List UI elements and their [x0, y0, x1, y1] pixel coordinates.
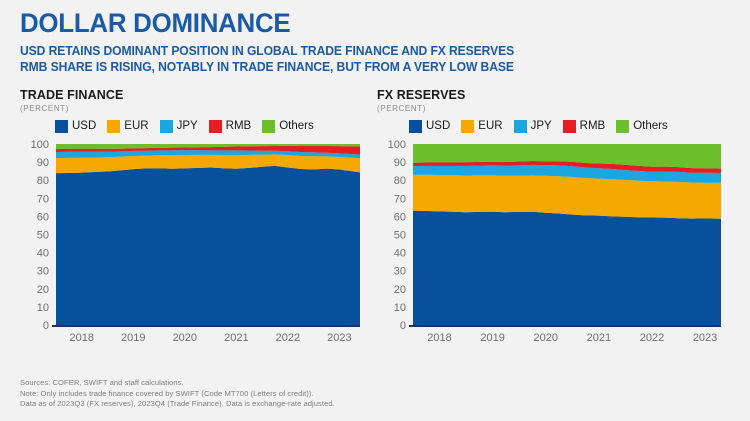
- x-tick-label: 2023: [327, 332, 351, 344]
- footnotes: Sources: COFER, SWIFT and staff calculat…: [20, 378, 335, 410]
- y-tick-label: 80: [394, 175, 406, 187]
- y-tick-label: 60: [37, 211, 49, 223]
- x-tick-label: 2021: [587, 332, 611, 344]
- x-tick-label: 2021: [224, 332, 248, 344]
- legend-item-eur[interactable]: EUR: [107, 120, 148, 133]
- y-tick-label: 10: [394, 302, 406, 314]
- y-tick-label: 100: [31, 139, 49, 151]
- area-series-usd: [56, 166, 360, 325]
- x-tick-label: 2022: [276, 332, 300, 344]
- legend-swatch-others-icon: [616, 120, 629, 133]
- y-tick-label: 80: [37, 175, 49, 187]
- x-tick-label: 2018: [70, 332, 94, 344]
- area-series-usd: [413, 211, 721, 325]
- y-tick-label: 40: [37, 248, 49, 260]
- panel-unit-trade-finance: (PERCENT): [20, 104, 368, 114]
- legend-fx-reserves: USD EUR JPY RMB Others: [409, 120, 673, 133]
- panel-unit-fx-reserves: (PERCENT): [377, 104, 729, 114]
- legend-item-rmb[interactable]: RMB: [563, 120, 606, 133]
- legend-label-eur: EUR: [124, 120, 148, 133]
- panel-title-trade-finance: TRADE FINANCE: [20, 88, 368, 102]
- legend-label-others: Others: [633, 120, 668, 133]
- legend-item-eur[interactable]: EUR: [461, 120, 502, 133]
- y-tick-label: 20: [394, 284, 406, 296]
- chart-svg-fx-reserves: 0102030405060708090100201820192020202120…: [377, 138, 729, 353]
- infographic-page: DOLLAR DOMINANCE USD RETAINS DOMINANT PO…: [0, 0, 750, 421]
- legend-swatch-usd-icon: [409, 120, 422, 133]
- panel-title-fx-reserves: FX RESERVES: [377, 88, 729, 102]
- subtitle-line-1: USD RETAINS DOMINANT POSITION IN GLOBAL …: [20, 44, 514, 58]
- y-tick-label: 0: [43, 320, 49, 332]
- legend-item-rmb[interactable]: RMB: [209, 120, 252, 133]
- legend-label-usd: USD: [72, 120, 96, 133]
- chart-fx-reserves: 0102030405060708090100201820192020202120…: [377, 138, 729, 353]
- x-tick-label: 2019: [121, 332, 145, 344]
- legend-item-jpy[interactable]: JPY: [160, 120, 198, 133]
- legend-swatch-rmb-icon: [563, 120, 576, 133]
- footnote-note: Note: Only includes trade finance covere…: [20, 389, 335, 400]
- legend-trade-finance: USD EUR JPY RMB Others: [55, 120, 319, 133]
- legend-label-rmb: RMB: [580, 120, 606, 133]
- legend-label-others: Others: [279, 120, 314, 133]
- chart-svg-trade-finance: 0102030405060708090100201820192020202120…: [20, 138, 368, 353]
- y-tick-label: 50: [394, 230, 406, 242]
- legend-label-eur: EUR: [478, 120, 502, 133]
- y-tick-label: 30: [37, 266, 49, 278]
- y-tick-label: 20: [37, 284, 49, 296]
- x-tick-label: 2020: [173, 332, 197, 344]
- legend-swatch-others-icon: [262, 120, 275, 133]
- legend-label-jpy: JPY: [531, 120, 552, 133]
- footnote-data-as-of: Data as of 2023Q3 (FX reserves), 2023Q4 …: [20, 399, 335, 410]
- y-tick-label: 40: [394, 248, 406, 260]
- legend-swatch-eur-icon: [107, 120, 120, 133]
- y-tick-label: 90: [37, 157, 49, 169]
- legend-label-usd: USD: [426, 120, 450, 133]
- y-tick-label: 100: [388, 139, 406, 151]
- x-tick-label: 2023: [693, 332, 717, 344]
- legend-item-others[interactable]: Others: [262, 120, 314, 133]
- legend-swatch-usd-icon: [55, 120, 68, 133]
- legend-label-jpy: JPY: [177, 120, 198, 133]
- legend-label-rmb: RMB: [226, 120, 252, 133]
- y-tick-label: 30: [394, 266, 406, 278]
- legend-swatch-eur-icon: [461, 120, 474, 133]
- page-title: DOLLAR DOMINANCE: [20, 8, 290, 39]
- y-tick-label: 0: [400, 320, 406, 332]
- x-tick-label: 2022: [640, 332, 664, 344]
- legend-item-usd[interactable]: USD: [409, 120, 450, 133]
- footnote-sources: Sources: COFER, SWIFT and staff calculat…: [20, 378, 335, 389]
- panel-fx-reserves: FX RESERVES (PERCENT) USD EUR JPY RMB Ot…: [377, 88, 729, 114]
- legend-item-jpy[interactable]: JPY: [514, 120, 552, 133]
- legend-swatch-jpy-icon: [514, 120, 527, 133]
- y-tick-label: 70: [37, 193, 49, 205]
- y-tick-label: 50: [37, 230, 49, 242]
- chart-trade-finance: 0102030405060708090100201820192020202120…: [20, 138, 368, 353]
- y-tick-label: 60: [394, 211, 406, 223]
- legend-item-usd[interactable]: USD: [55, 120, 96, 133]
- legend-swatch-jpy-icon: [160, 120, 173, 133]
- subtitle-line-2: RMB SHARE IS RISING, NOTABLY IN TRADE FI…: [20, 60, 514, 74]
- y-tick-label: 90: [394, 157, 406, 169]
- x-tick-label: 2020: [534, 332, 558, 344]
- x-tick-label: 2018: [427, 332, 451, 344]
- y-tick-label: 10: [37, 302, 49, 314]
- legend-swatch-rmb-icon: [209, 120, 222, 133]
- x-tick-label: 2019: [480, 332, 504, 344]
- legend-item-others[interactable]: Others: [616, 120, 668, 133]
- panel-trade-finance: TRADE FINANCE (PERCENT) USD EUR JPY RMB …: [20, 88, 368, 114]
- y-tick-label: 70: [394, 193, 406, 205]
